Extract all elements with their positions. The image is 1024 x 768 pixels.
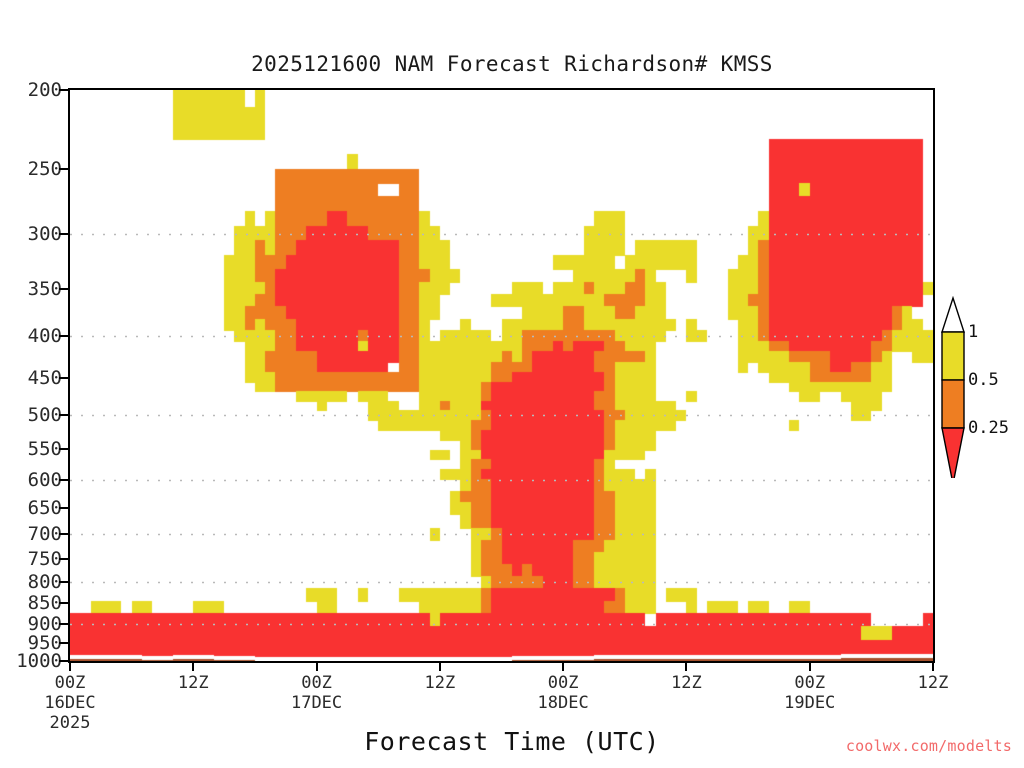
x-tick-time-0: 00Z bbox=[55, 673, 86, 693]
x-tick-mark-12 bbox=[192, 663, 194, 671]
y-tick-mark-350 bbox=[59, 288, 68, 290]
y-tick-mark-250 bbox=[59, 168, 68, 170]
x-tick-mark-24 bbox=[316, 663, 318, 671]
y-tick-label-350: 350 bbox=[2, 278, 62, 300]
x-tick-time-84: 12Z bbox=[918, 673, 949, 693]
y-tick-label-700: 700 bbox=[2, 523, 62, 545]
y-tick-label-500: 500 bbox=[2, 404, 62, 426]
x-tick-mark-60 bbox=[685, 663, 687, 671]
x-tick-date-19DEC: 19DEC bbox=[784, 693, 835, 713]
y-tick-mark-850 bbox=[59, 602, 68, 604]
chart-page: 2025121600 NAM Forecast Richardson# KMSS… bbox=[0, 0, 1024, 768]
x-tick-time-12: 12Z bbox=[178, 673, 209, 693]
y-tick-mark-400 bbox=[59, 335, 68, 337]
y-tick-mark-200 bbox=[59, 89, 68, 91]
y-tick-mark-1000 bbox=[59, 660, 68, 662]
y-tick-mark-300 bbox=[59, 233, 68, 235]
x-tick-mark-0 bbox=[69, 663, 71, 671]
x-tick-time-36: 12Z bbox=[424, 673, 455, 693]
x-tick-time-72: 00Z bbox=[794, 673, 825, 693]
y-tick-mark-450 bbox=[59, 377, 68, 379]
y-tick-label-1000: 1000 bbox=[2, 650, 62, 672]
y-tick-label-650: 650 bbox=[2, 497, 62, 519]
heatmap-canvas[interactable] bbox=[70, 90, 933, 661]
watermark: coolwx.com/modelts bbox=[846, 737, 1012, 755]
colorbar-band-orange bbox=[942, 380, 964, 428]
y-tick-label-600: 600 bbox=[2, 469, 62, 491]
y-tick-mark-650 bbox=[59, 507, 68, 509]
y-tick-label-200: 200 bbox=[2, 79, 62, 101]
y-tick-label-800: 800 bbox=[2, 571, 62, 593]
x-tick-date-16DEC: 16DEC bbox=[44, 693, 95, 713]
x-tick-mark-48 bbox=[562, 663, 564, 671]
x-tick-mark-36 bbox=[439, 663, 441, 671]
y-tick-label-550: 550 bbox=[2, 438, 62, 460]
colorbar-label-0p25: 0.25 bbox=[968, 418, 1009, 438]
x-tick-mark-84 bbox=[932, 663, 934, 671]
x-tick-time-48: 00Z bbox=[548, 673, 579, 693]
colorbar-band-yellow bbox=[942, 332, 964, 380]
y-tick-mark-550 bbox=[59, 448, 68, 450]
colorbar-label-0p5: 0.5 bbox=[968, 370, 999, 390]
y-tick-mark-700 bbox=[59, 533, 68, 535]
x-tick-date-18DEC: 18DEC bbox=[538, 693, 589, 713]
y-tick-label-300: 300 bbox=[2, 223, 62, 245]
colorbar-label-1: 1 bbox=[968, 322, 978, 342]
y-tick-mark-800 bbox=[59, 581, 68, 583]
y-tick-label-250: 250 bbox=[2, 158, 62, 180]
y-tick-mark-750 bbox=[59, 558, 68, 560]
chart-title: 2025121600 NAM Forecast Richardson# KMSS bbox=[0, 52, 1024, 76]
y-tick-mark-600 bbox=[59, 479, 68, 481]
x-tick-mark-72 bbox=[809, 663, 811, 671]
y-tick-mark-900 bbox=[59, 623, 68, 625]
y-tick-mark-950 bbox=[59, 642, 68, 644]
colorbar-cap-below bbox=[942, 428, 964, 478]
x-tick-time-60: 12Z bbox=[671, 673, 702, 693]
colorbar-legend[interactable]: 10.50.25 bbox=[938, 296, 1024, 478]
x-tick-time-24: 00Z bbox=[301, 673, 332, 693]
y-tick-label-850: 850 bbox=[2, 592, 62, 614]
x-tick-date-17DEC: 17DEC bbox=[291, 693, 342, 713]
y-tick-label-450: 450 bbox=[2, 367, 62, 389]
colorbar-cap-above bbox=[942, 298, 964, 332]
y-tick-mark-500 bbox=[59, 414, 68, 416]
y-tick-label-750: 750 bbox=[2, 548, 62, 570]
y-tick-label-400: 400 bbox=[2, 325, 62, 347]
plot-area[interactable] bbox=[68, 88, 935, 663]
